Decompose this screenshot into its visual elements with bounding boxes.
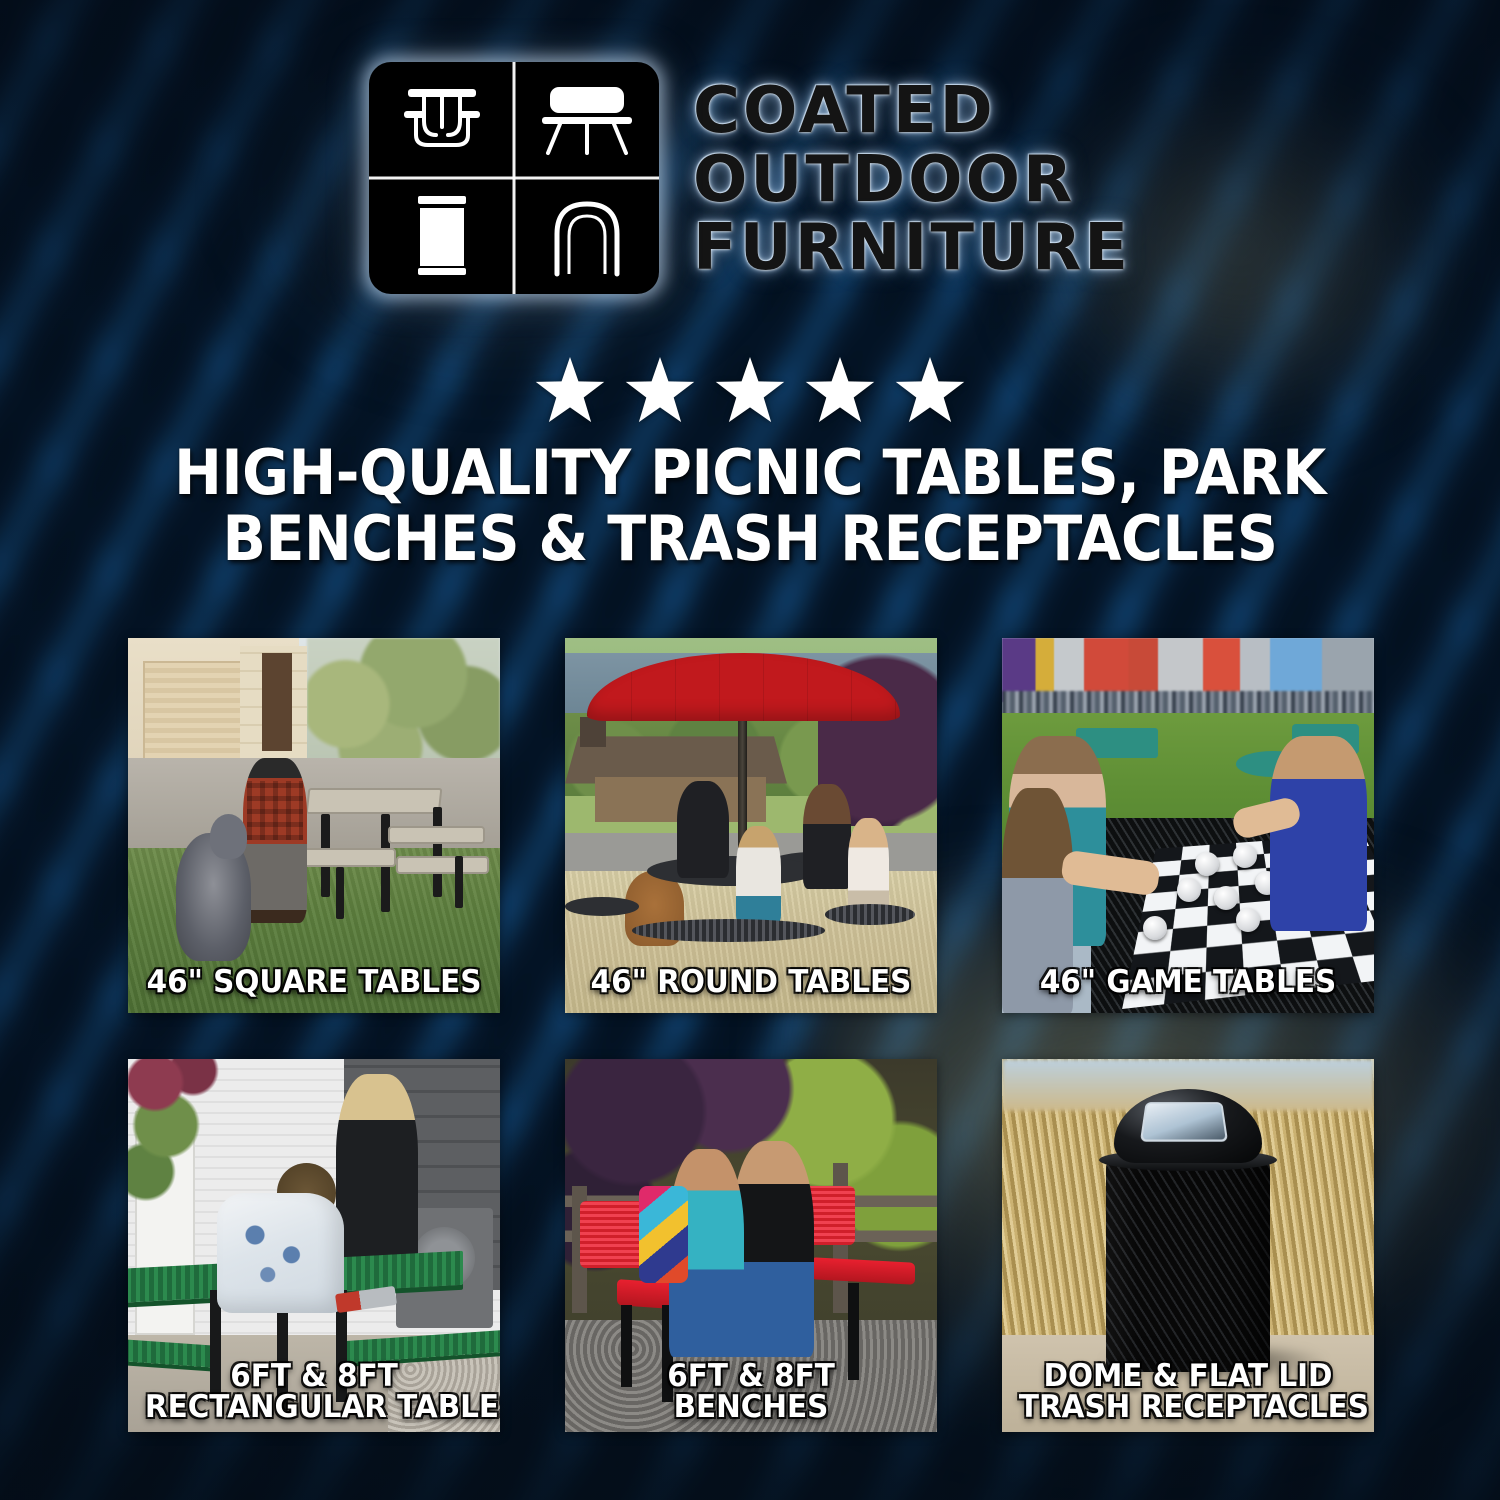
star-icon — [892, 356, 968, 430]
caption-line: 6FT & 8FT — [582, 1361, 920, 1393]
logo-word-1: COATED — [693, 78, 1131, 145]
logo-word-3: FURNITURE — [693, 215, 1131, 282]
tile-caption: 6FT & 8FT BENCHES — [582, 1361, 920, 1424]
tile-caption: 46" ROUND TABLES — [582, 967, 920, 999]
tile-caption: 6FT & 8FT RECTANGULAR TABLES — [145, 1361, 483, 1424]
caption-line: 46" SQUARE TABLES — [145, 967, 483, 999]
page-title: HIGH-QUALITY PICNIC TABLES, PARK BENCHES… — [124, 440, 1375, 573]
trash-receptacle-icon — [369, 178, 514, 294]
product-tile-trash-receptacles[interactable]: DOME & FLAT LID TRASH RECEPTACLES — [1002, 1059, 1374, 1432]
dome-lid-icon — [514, 178, 659, 294]
product-category-grid: 46" SQUARE TABLES — [128, 638, 1373, 1432]
bench-icon — [514, 62, 659, 178]
star-icon — [532, 356, 608, 430]
game-tables-photo — [1002, 638, 1374, 1013]
tile-caption: 46" GAME TABLES — [1019, 967, 1357, 999]
tile-caption: 46" SQUARE TABLES — [145, 967, 483, 999]
star-rating — [0, 356, 1500, 430]
caption-line: 6FT & 8FT — [145, 1361, 483, 1393]
headline-line-2: BENCHES & TRASH RECEPTACLES — [124, 506, 1375, 572]
caption-line: 46" GAME TABLES — [1019, 967, 1357, 999]
product-tile-rectangular-tables[interactable]: 6FT & 8FT RECTANGULAR TABLES — [128, 1059, 500, 1432]
promo-banner: COATED OUTDOOR FURNITURE HIGH-QUALITY PI… — [0, 0, 1500, 1500]
product-tile-benches[interactable]: 6FT & 8FT BENCHES — [565, 1059, 937, 1432]
brand-logo[interactable]: COATED OUTDOOR FURNITURE — [0, 62, 1500, 294]
picnic-table-icon — [369, 62, 514, 178]
caption-line: RECTANGULAR TABLES — [145, 1392, 483, 1424]
product-tile-square-tables[interactable]: 46" SQUARE TABLES — [128, 638, 500, 1013]
caption-line: 46" ROUND TABLES — [582, 967, 920, 999]
headline-line-1: HIGH-QUALITY PICNIC TABLES, PARK — [124, 440, 1375, 506]
tile-caption: DOME & FLAT LID TRASH RECEPTACLES — [1019, 1361, 1357, 1424]
star-icon — [622, 356, 698, 430]
caption-line: TRASH RECEPTACLES — [1019, 1392, 1357, 1424]
logo-word-2: OUTDOOR — [693, 147, 1131, 214]
logo-icon-grid — [369, 62, 659, 294]
product-tile-game-tables[interactable]: 46" GAME TABLES — [1002, 638, 1374, 1013]
logo-wordmark: COATED OUTDOOR FURNITURE — [693, 74, 1131, 282]
round-tables-photo — [565, 638, 937, 1013]
product-tile-round-tables[interactable]: 46" ROUND TABLES — [565, 638, 937, 1013]
caption-line: DOME & FLAT LID — [1019, 1361, 1357, 1393]
star-icon — [802, 356, 878, 430]
square-tables-photo — [128, 638, 500, 1013]
caption-line: BENCHES — [582, 1392, 920, 1424]
star-icon — [712, 356, 788, 430]
